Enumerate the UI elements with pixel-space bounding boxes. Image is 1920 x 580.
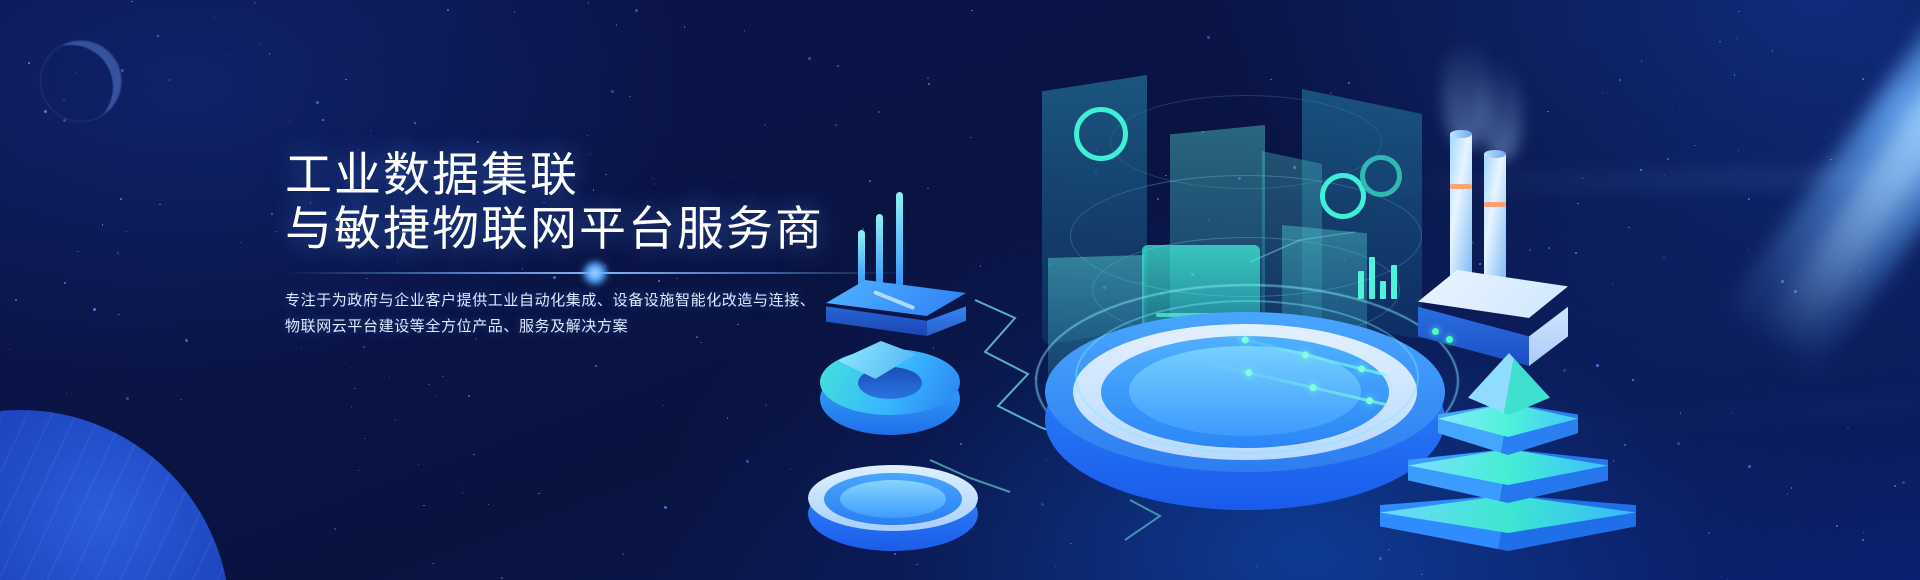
- headline-line-1: 工业数据集联: [285, 148, 579, 201]
- wireless-router-icon: [820, 220, 980, 350]
- hero-illustration: [780, 0, 1800, 580]
- factory-icon: [1380, 80, 1610, 380]
- pedestal-base: [808, 455, 978, 565]
- pyramid-icon: [1380, 345, 1640, 580]
- diamond-glow-icon: [577, 255, 614, 292]
- hero-banner: 工业数据集联 与敏捷物联网平台服务商 专注于为政府与企业客户提供工业自动化集成、…: [0, 0, 1920, 580]
- disc-halo-inner: [1075, 300, 1419, 454]
- crescent-moon-icon: [40, 40, 122, 122]
- planet-icon: [0, 410, 230, 580]
